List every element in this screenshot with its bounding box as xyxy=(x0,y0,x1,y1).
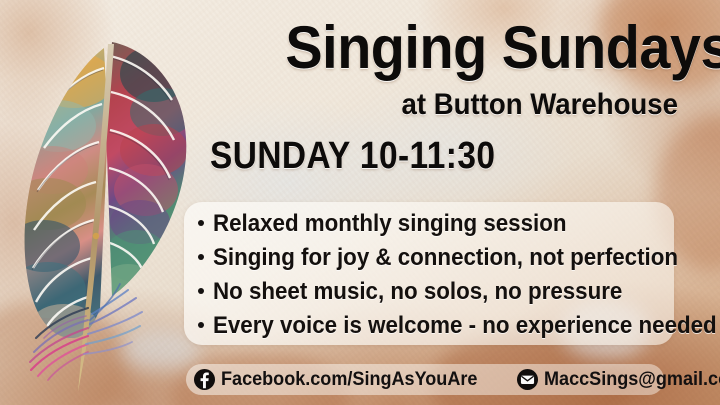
bullet-text: Every voice is welcome - no experience n… xyxy=(213,309,717,342)
bullet-text: Relaxed monthly singing session xyxy=(213,207,566,240)
contact-facebook[interactable]: Facebook.com/SingAsYouAre xyxy=(194,369,491,390)
list-item: Every voice is welcome - no experience n… xyxy=(184,309,674,342)
list-item: Relaxed monthly singing session xyxy=(184,207,674,240)
bullet-text: Singing for joy & connection, not perfec… xyxy=(213,241,678,274)
watercolor-feather xyxy=(0,8,206,400)
bullet-dot-icon xyxy=(198,322,204,328)
schedule-line: SUNDAY 10-11:30 xyxy=(210,137,495,175)
bullet-dot-icon xyxy=(198,288,204,294)
facebook-handle: Facebook.com/SingAsYouAre xyxy=(221,369,477,390)
poster-canvas: Singing Sundays at Button Warehouse SUND… xyxy=(0,0,720,405)
bullet-text: No sheet music, no solos, no pressure xyxy=(213,275,622,308)
contact-email[interactable]: MaccSings@gmail.com xyxy=(517,369,720,390)
list-item: No sheet music, no solos, no pressure xyxy=(184,275,674,308)
contact-bar: Facebook.com/SingAsYouAre MaccSings@gmai… xyxy=(186,364,664,395)
bullets-panel: Relaxed monthly singing session Singing … xyxy=(184,202,674,345)
list-item: Singing for joy & connection, not perfec… xyxy=(184,241,674,274)
email-icon xyxy=(517,369,538,390)
page-title: Singing Sundays xyxy=(285,20,676,75)
bullet-list: Relaxed monthly singing session Singing … xyxy=(184,207,674,343)
email-address: MaccSings@gmail.com xyxy=(544,369,720,390)
facebook-icon xyxy=(194,369,215,390)
bullet-dot-icon xyxy=(198,220,204,226)
bullet-dot-icon xyxy=(198,254,204,260)
page-subtitle: at Button Warehouse xyxy=(330,90,678,120)
